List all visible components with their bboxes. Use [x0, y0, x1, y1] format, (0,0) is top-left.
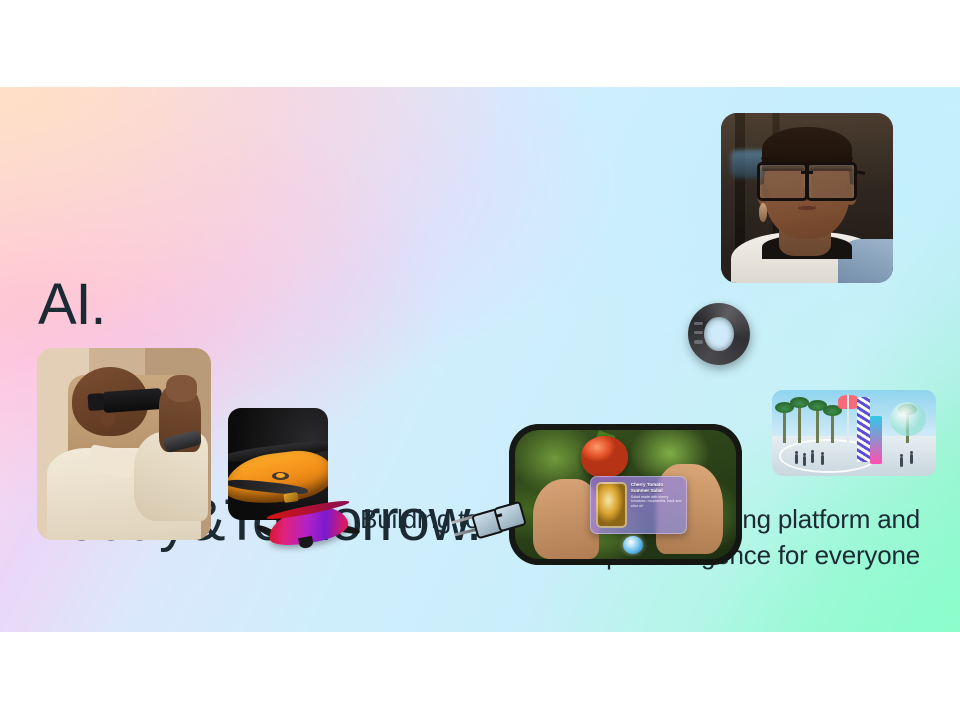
avatar — [803, 456, 806, 466]
glasses-bridge — [801, 171, 813, 174]
woman-wearing-smart-glasses-photo — [721, 113, 893, 283]
avatar — [811, 453, 814, 463]
lens-right — [806, 162, 857, 200]
strap-slat — [694, 331, 704, 334]
hand-left — [533, 479, 599, 559]
mouth — [798, 206, 815, 210]
eyebrow-left — [761, 157, 781, 160]
man-wearing-ai-glasses-photo — [37, 348, 211, 540]
lens-left — [757, 162, 808, 200]
letterbox-top — [0, 0, 960, 87]
ar-recipe-card[interactable]: Cherry Tomato Summer Salad Salad made wi… — [590, 476, 687, 534]
oakley-sphaera-magenta-lens-product — [258, 501, 356, 561]
palm-tree — [783, 409, 786, 443]
letterbox-bottom — [0, 632, 960, 720]
oakley-logo-icon — [272, 472, 289, 480]
gradient-banner — [870, 416, 881, 464]
avatar — [910, 454, 913, 464]
presentation-slide: AI. Today&Tomorrow. Building towards the… — [0, 87, 960, 632]
nose-bridge — [298, 536, 314, 549]
hand — [166, 375, 197, 402]
avatar — [821, 455, 824, 465]
eyebrow-right — [834, 157, 854, 160]
strap-slat — [694, 322, 704, 325]
avatar — [795, 454, 798, 464]
ray-ban-display-glasses-product — [455, 495, 527, 557]
avatar — [900, 457, 903, 467]
palm-tree — [816, 407, 819, 443]
recipe-title-line-2: Summer Salad — [631, 488, 682, 493]
strap-slat — [694, 340, 704, 343]
ar-focus-indicator — [623, 536, 643, 554]
palm-tree — [798, 404, 801, 444]
flag-pole — [847, 395, 849, 448]
headline-line-1: AI. — [38, 269, 481, 341]
striped-banner — [857, 397, 870, 462]
meta-neural-wristband-product — [688, 303, 750, 365]
cherry-tomato — [581, 436, 627, 477]
wristband-opening — [704, 317, 734, 352]
recipe-thumbnail — [596, 482, 627, 528]
horizon-worlds-virtual-plaza-scene — [772, 390, 936, 476]
ar-tomato-garden-viewfinder: Cherry Tomato Summer Salad Salad made wi… — [509, 424, 742, 565]
garden-foliage: Cherry Tomato Summer Salad Salad made wi… — [515, 430, 736, 559]
smart-glasses-icon — [757, 162, 857, 194]
palm-tree — [831, 412, 834, 443]
recipe-description: Salad made with cherry tomatoes, mozzare… — [631, 495, 682, 508]
recipe-text: Cherry Tomato Summer Salad Salad made wi… — [631, 482, 682, 528]
